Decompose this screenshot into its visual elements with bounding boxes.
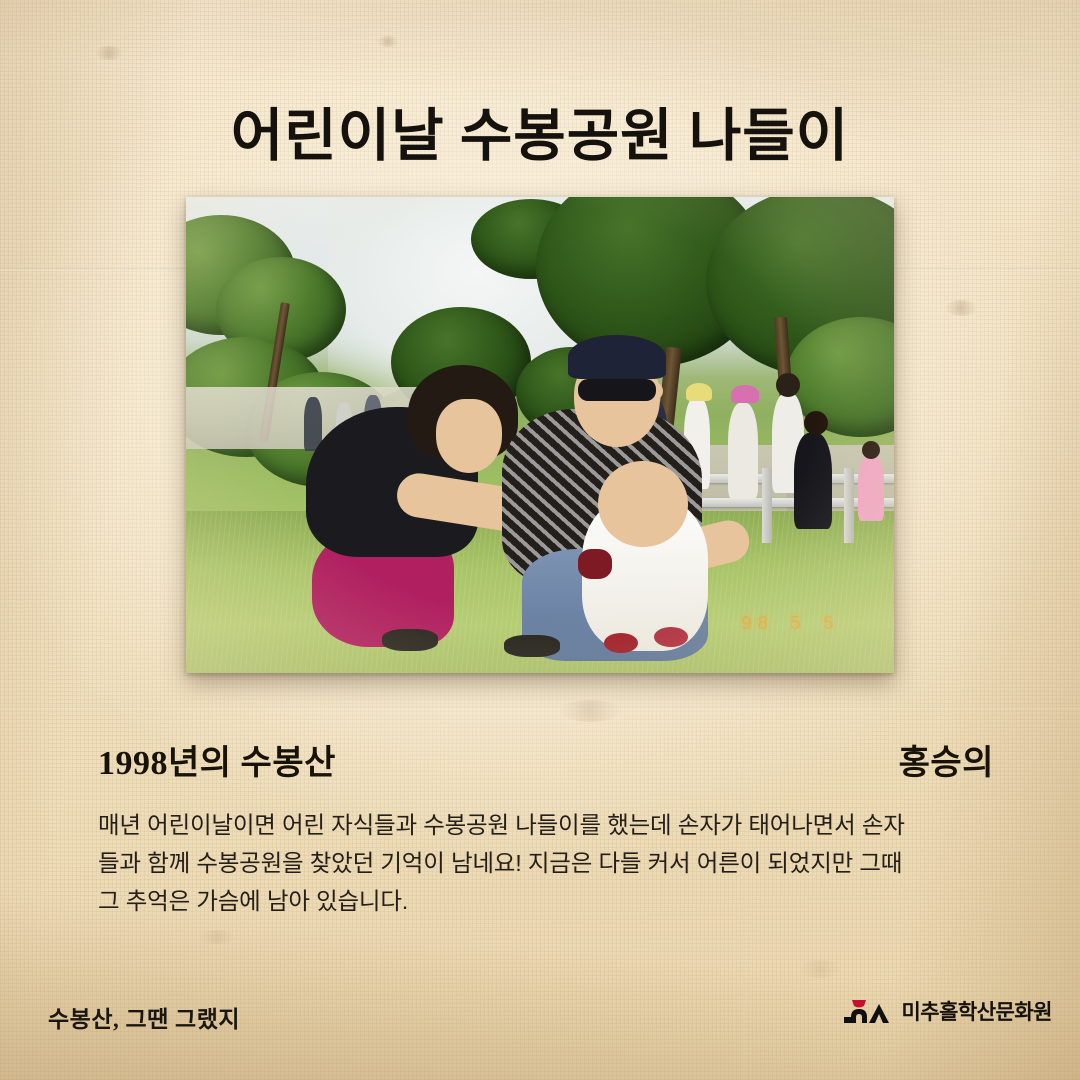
photo-baby-shoe <box>654 627 688 647</box>
photo-baby-shoe <box>604 633 638 653</box>
photo-baby-toy <box>578 549 612 579</box>
photo-grandfather-cap <box>568 335 666 379</box>
body-line: 매년 어린이날이면 어린 자식들과 수봉공원 나들이를 했는데 손자가 태어나면… <box>98 806 990 844</box>
memory-photo: 98 5 5 <box>186 197 894 673</box>
memory-card: 어린이날 수봉공원 나들이 <box>0 0 1080 1080</box>
page-title: 어린이날 수봉공원 나들이 <box>0 90 1080 172</box>
paper-stain-2 <box>378 36 398 47</box>
body-line: 그 추억은 가슴에 남아 있습니다. <box>98 882 990 920</box>
mountain-roof-logo-icon <box>842 996 894 1026</box>
photo-background-person <box>728 403 758 499</box>
photo-background-person <box>776 373 800 397</box>
caption-row: 1998년의 수봉산 홍승의 <box>98 735 994 784</box>
photo-background-person <box>858 455 884 521</box>
photo-background-person <box>862 441 880 459</box>
caption-title: 1998년의 수봉산 <box>98 735 336 784</box>
photo-frame: 98 5 5 <box>186 197 894 673</box>
photo-grandmother-face <box>436 399 502 473</box>
photo-grandmother-shoe <box>382 629 438 651</box>
photo-background-person <box>804 411 828 435</box>
paper-stain-1 <box>96 46 122 60</box>
paper-stain-5 <box>200 930 234 944</box>
organization-name: 미추홀학산문화원 <box>901 996 1052 1026</box>
photo-background-person <box>794 433 832 529</box>
paper-stain-3 <box>946 300 976 316</box>
paper-crease-horizontal-bottom <box>0 706 1080 709</box>
photo-grandfather-shoe <box>504 635 560 657</box>
photo-background-person <box>731 385 759 403</box>
paper-stain-4 <box>560 700 620 722</box>
body-line: 들과 함께 수봉공원을 찾았던 기억이 남네요! 지금은 다들 커서 어른이 되… <box>98 844 990 882</box>
photo-baby-head <box>598 461 688 547</box>
photo-date-stamp: 98 5 5 <box>741 613 839 635</box>
paper-stain-6 <box>800 960 840 978</box>
organization-logo: 미추홀학산문화원 <box>842 996 1052 1026</box>
memory-body-text: 매년 어린이날이면 어린 자식들과 수봉공원 나들이를 했는데 손자가 태어나면… <box>98 806 990 920</box>
photo-grandfather-sunglasses <box>578 379 656 401</box>
photo-background-person <box>686 383 712 401</box>
caption-author: 홍승의 <box>899 735 994 784</box>
footer-series-label: 수봉산, 그땐 그랬지 <box>48 1000 240 1034</box>
